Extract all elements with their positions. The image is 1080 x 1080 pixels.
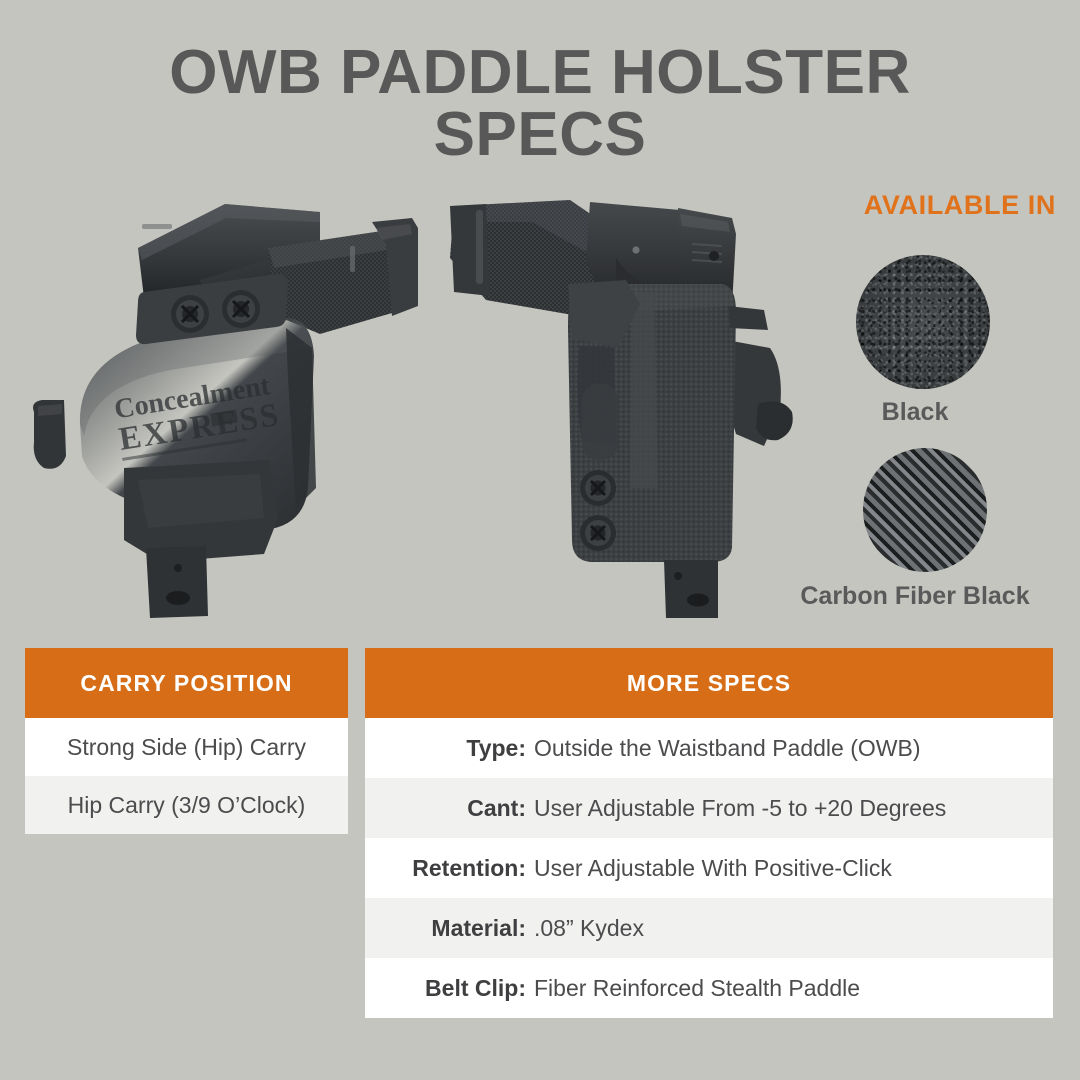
table-row: Material: .08” Kydex bbox=[365, 898, 1053, 958]
spec-label-retention: Retention: bbox=[365, 855, 534, 882]
spec-label-belt-clip: Belt Clip: bbox=[365, 975, 534, 1002]
spec-label-material: Material: bbox=[365, 915, 534, 942]
available-in-heading: AVAILABLE IN bbox=[864, 190, 1056, 221]
page-title: OWB PADDLE HOLSTER SPECS bbox=[60, 42, 1020, 166]
spec-value-type: Outside the Waistband Paddle (OWB) bbox=[534, 735, 1053, 762]
page-title-line-1: OWB PADDLE HOLSTER bbox=[169, 38, 911, 107]
holster-front-view-image: Concealment EXPRESS bbox=[20, 188, 440, 620]
table-row: Strong Side (Hip) Carry bbox=[25, 718, 348, 776]
available-colors-panel: AVAILABLE IN Black Carbon Fiber Black bbox=[770, 190, 1060, 620]
infographic-page: OWB PADDLE HOLSTER SPECS bbox=[0, 0, 1080, 1080]
spec-label-type: Type: bbox=[365, 735, 534, 762]
table-row: Type: Outside the Waistband Paddle (OWB) bbox=[365, 718, 1053, 778]
spec-value-belt-clip: Fiber Reinforced Stealth Paddle bbox=[534, 975, 1053, 1002]
spec-label-cant: Cant: bbox=[365, 795, 534, 822]
table-row: Cant: User Adjustable From -5 to +20 Deg… bbox=[365, 778, 1053, 838]
table-row: Retention: User Adjustable With Positive… bbox=[365, 838, 1053, 898]
color-swatch-carbon-fiber-black-label: Carbon Fiber Black bbox=[770, 582, 1060, 611]
table-row: Hip Carry (3/9 O’Clock) bbox=[25, 776, 348, 834]
carry-position-table: CARRY POSITION Strong Side (Hip) Carry H… bbox=[25, 648, 348, 834]
spec-value-material: .08” Kydex bbox=[534, 915, 1053, 942]
color-swatch-black-label: Black bbox=[770, 398, 1060, 427]
carry-position-value: Strong Side (Hip) Carry bbox=[67, 734, 306, 761]
color-swatch-black[interactable] bbox=[856, 255, 990, 389]
more-specs-table: MORE SPECS Type: Outside the Waistband P… bbox=[365, 648, 1053, 1018]
page-title-line-2: SPECS bbox=[60, 104, 1020, 166]
color-swatch-carbon-fiber-black[interactable] bbox=[863, 448, 987, 572]
table-row: Belt Clip: Fiber Reinforced Stealth Padd… bbox=[365, 958, 1053, 1018]
spec-value-cant: User Adjustable From -5 to +20 Degrees bbox=[534, 795, 1053, 822]
spec-value-retention: User Adjustable With Positive-Click bbox=[534, 855, 1053, 882]
more-specs-table-header: MORE SPECS bbox=[365, 648, 1053, 718]
carry-position-value: Hip Carry (3/9 O’Clock) bbox=[68, 792, 306, 819]
carry-position-table-header: CARRY POSITION bbox=[25, 648, 348, 718]
